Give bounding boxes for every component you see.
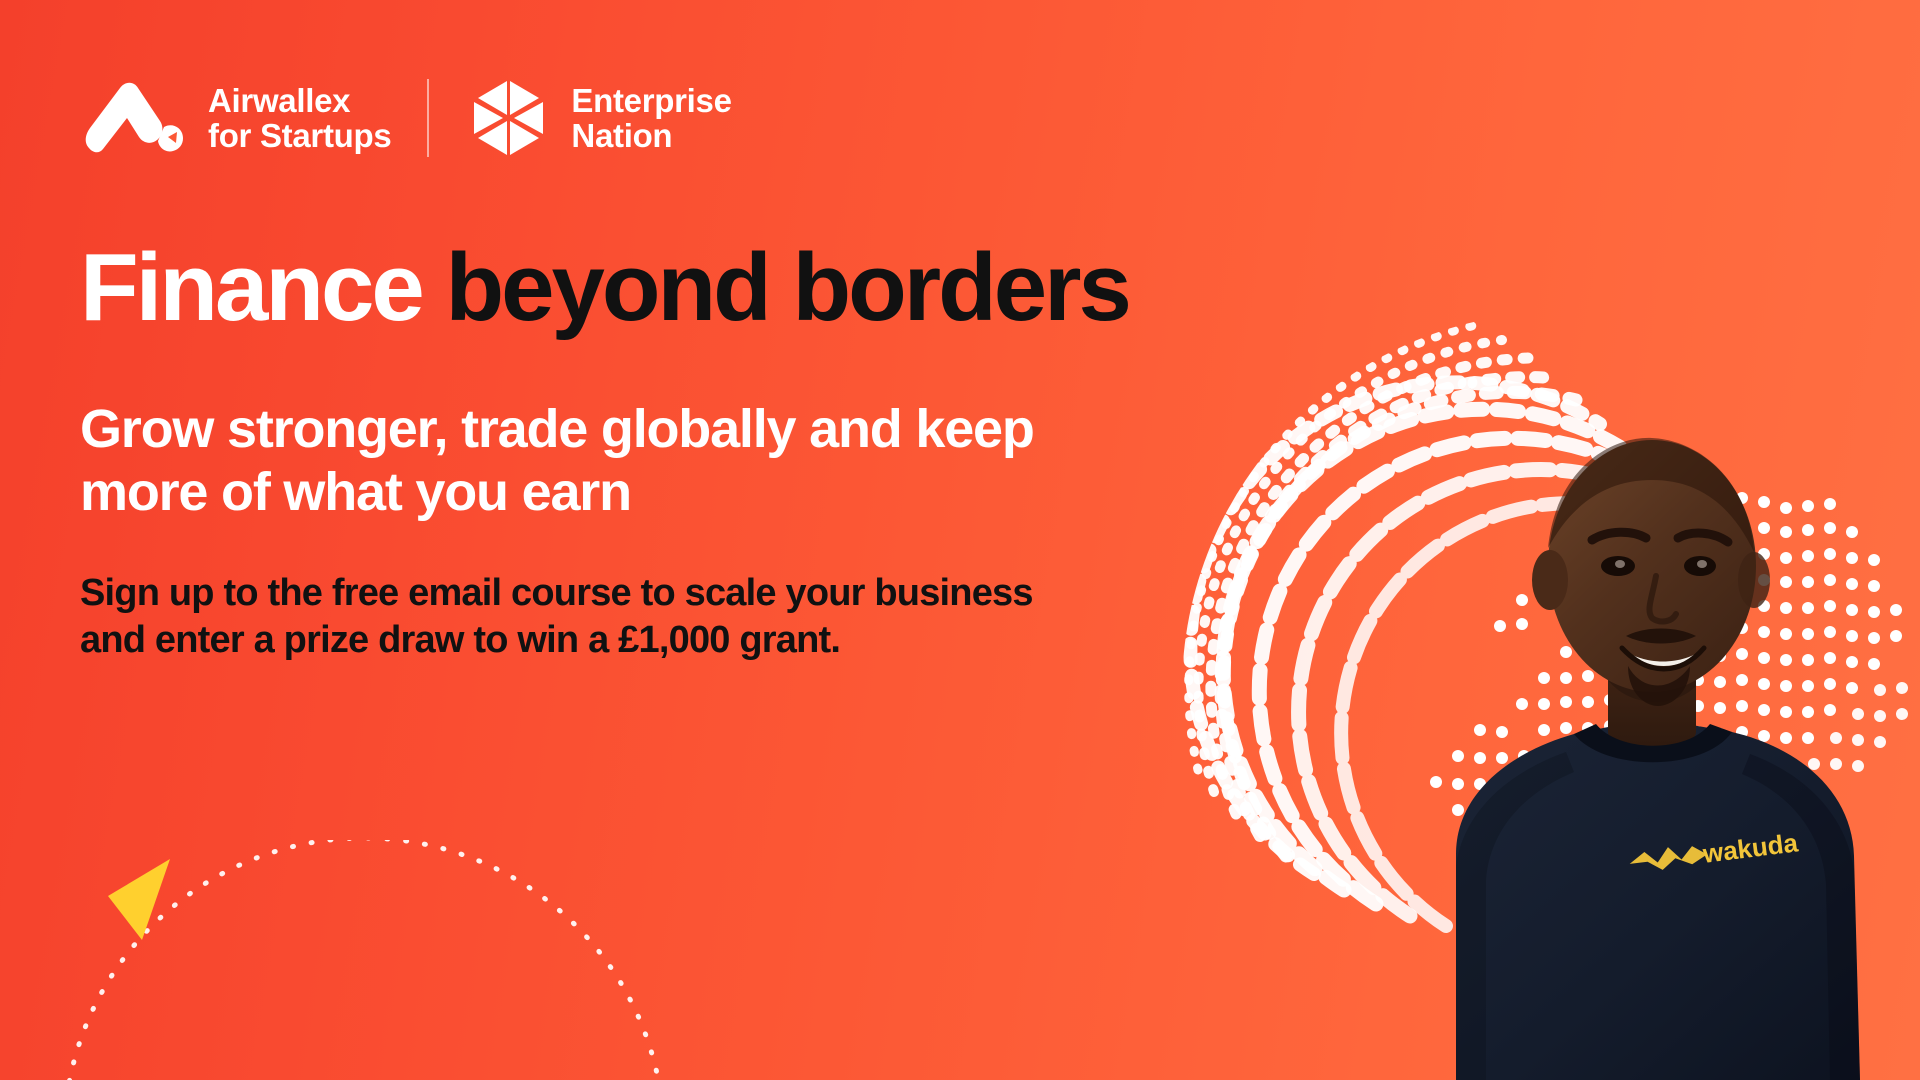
airwallex-for-startups-logo[interactable]: Airwallex for Startups: [80, 81, 391, 155]
marketing-banner: wakuda Airwallex for Startups: [0, 0, 1920, 1080]
airwallex-logo-line1: Airwallex: [208, 82, 350, 119]
airwallex-logo-line2: for Startups: [208, 117, 391, 154]
airwallex-logo-text: Airwallex for Startups: [208, 83, 391, 154]
enterprise-nation-line2: Nation: [571, 117, 672, 154]
logo-lockup-row: Airwallex for Startups: [80, 78, 732, 158]
airwallex-logo-mark: [80, 81, 188, 155]
headline-part-black: beyond borders: [445, 234, 1128, 341]
dotted-globe-graphic: [1180, 300, 1920, 1080]
enterprise-nation-hexagon-mark: [465, 76, 549, 160]
copy-block: Finance beyond borders Grow stronger, tr…: [80, 240, 1200, 663]
enterprise-nation-logo-text: Enterprise Nation: [571, 83, 731, 154]
subheading: Grow stronger, trade globally and keep m…: [80, 398, 1090, 524]
smiling-entrepreneur-photo: wakuda: [1360, 380, 1920, 1080]
page-title: Finance beyond borders: [80, 240, 1200, 336]
enterprise-nation-line1: Enterprise: [571, 82, 731, 119]
enterprise-nation-logo[interactable]: Enterprise Nation: [465, 76, 731, 160]
headline-part-white: Finance: [80, 234, 422, 341]
dotted-arc-graphic: [60, 840, 700, 1080]
body-copy: Sign up to the free email course to scal…: [80, 570, 1040, 663]
yellow-triangle-marker: [108, 859, 170, 940]
tshirt-logo-text: wakuda: [1700, 827, 1800, 869]
logo-divider: [427, 79, 429, 157]
